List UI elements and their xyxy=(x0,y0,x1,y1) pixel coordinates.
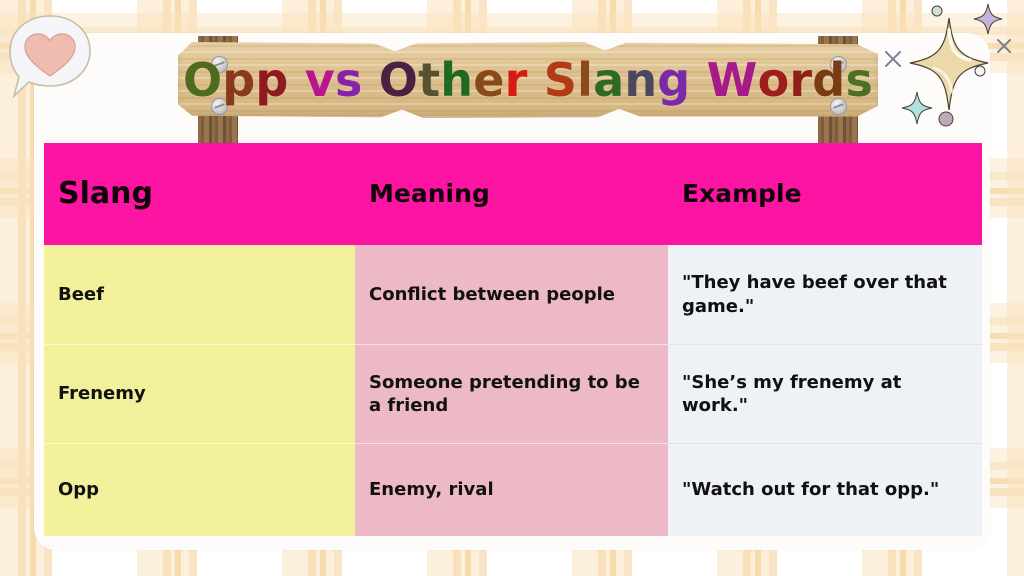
title-letter: t xyxy=(418,53,440,107)
sparkle-cluster-icon xyxy=(874,0,1024,140)
purple-star-icon xyxy=(974,4,1002,34)
table-header-example: Example xyxy=(668,143,982,245)
title-letter: W xyxy=(707,53,758,107)
table-cell-example: "She’s my frenemy at work." xyxy=(668,344,982,443)
table-header-slang: Slang xyxy=(44,143,355,245)
title-letter xyxy=(528,53,544,107)
title-letter: O xyxy=(183,53,222,107)
title-letter: v xyxy=(305,53,335,107)
title-letter: g xyxy=(657,53,690,107)
title-letter: s xyxy=(845,53,873,107)
title-letter xyxy=(363,53,379,107)
table-cell-meaning: Enemy, rival xyxy=(355,443,668,536)
speech-bubble-icon xyxy=(4,10,96,105)
title-letter xyxy=(690,53,706,107)
table-header-meaning: Meaning xyxy=(355,143,668,245)
table-cell-slang: Opp xyxy=(44,443,355,536)
title-letter: e xyxy=(473,53,504,107)
title-letter: l xyxy=(577,53,593,107)
table-cell-example: "Watch out for that opp." xyxy=(668,443,982,536)
title-letter: r xyxy=(505,53,528,107)
title-letter: r xyxy=(789,53,812,107)
wooden-sign: Opp vs Other Slang Words xyxy=(178,18,878,138)
title-letter: p xyxy=(222,53,255,107)
table-cell-slang: Beef xyxy=(44,245,355,344)
sparkles-decoration xyxy=(874,0,1024,140)
title-letter: s xyxy=(335,53,363,107)
table-cell-example: "They have beef over that game." xyxy=(668,245,982,344)
title-letter: d xyxy=(812,53,845,107)
title-letter: n xyxy=(624,53,657,107)
title-letter: S xyxy=(544,53,577,107)
page-title: Opp vs Other Slang Words xyxy=(178,42,878,118)
table-cell-slang: Frenemy xyxy=(44,344,355,443)
title-letter: O xyxy=(379,53,418,107)
title-letter: o xyxy=(758,53,790,107)
slang-comparison-table: Slang Meaning Example Beef Conflict betw… xyxy=(44,143,982,536)
title-letter: h xyxy=(440,53,473,107)
title-letter: a xyxy=(593,53,624,107)
teal-dot-icon xyxy=(932,6,942,16)
small-circle-icon xyxy=(975,66,985,76)
mauve-dot-icon xyxy=(939,112,953,126)
title-letter: p xyxy=(255,53,288,107)
title-letter xyxy=(289,53,305,107)
table-cell-meaning: Someone pretending to be a friend xyxy=(355,344,668,443)
table-cell-meaning: Conflict between people xyxy=(355,245,668,344)
cyan-star-icon xyxy=(902,92,932,124)
heart-speech-bubble xyxy=(4,10,96,105)
